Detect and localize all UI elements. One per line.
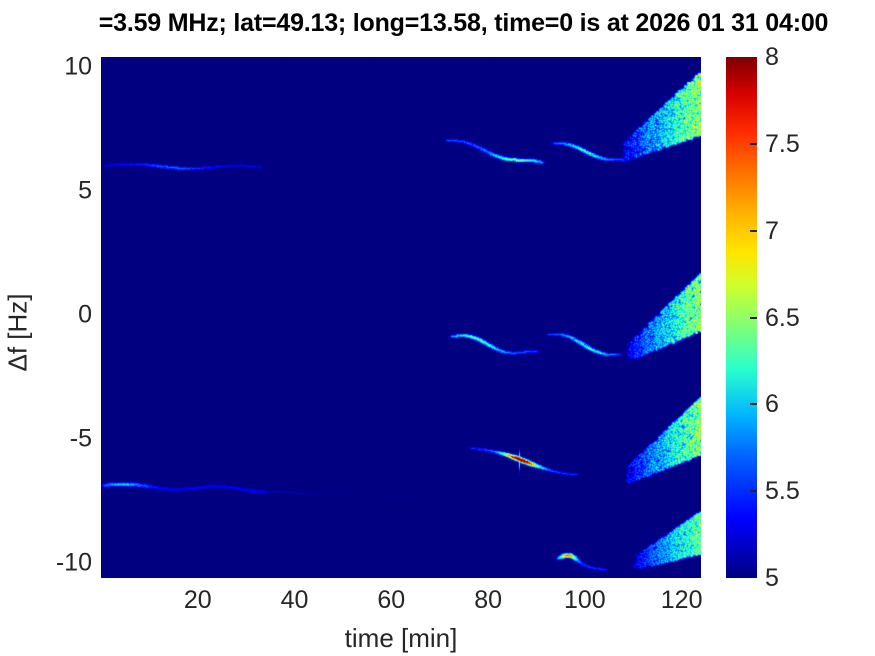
x-tick-label: 40: [281, 586, 309, 615]
x-tick-label: 100: [564, 586, 606, 615]
colorbar-tick-label: 8: [765, 42, 779, 72]
colorbar-tick-label: 5: [765, 563, 779, 593]
colorbar-tick-mark: [750, 317, 757, 319]
y-tick-label: -5: [70, 425, 92, 454]
page-title: =3.59 MHz; lat=49.13; long=13.58, time=0…: [26, 9, 875, 38]
y-axis-label: Δf [Hz]: [3, 253, 34, 413]
y-tick-label: 10: [64, 52, 92, 81]
y-tick-label: -10: [56, 549, 92, 578]
colorbar-tick-label: 5.5: [765, 476, 800, 506]
colorbar-tick-label: 6: [765, 389, 779, 419]
x-tick-label: 80: [474, 586, 502, 615]
x-axis: 20406080100120: [0, 586, 875, 626]
x-tick-label: 120: [661, 586, 703, 615]
colorbar-tick-mark: [750, 403, 757, 405]
x-axis-label: time [min]: [101, 623, 701, 654]
x-tick-label: 20: [184, 586, 212, 615]
colorbar-tick-mark: [750, 143, 757, 145]
y-tick-label: 5: [78, 176, 92, 205]
x-tick-label: 60: [377, 586, 405, 615]
spectrogram-image: [101, 57, 701, 578]
spectrogram-plot-area[interactable]: [101, 57, 701, 578]
colorbar-tick-label: 7.5: [765, 129, 800, 159]
y-tick-label: 0: [78, 301, 92, 330]
colorbar-tick-label: 6.5: [765, 303, 800, 333]
colorbar-tick-label: 7: [765, 216, 779, 246]
colorbar-tick-group: 87.576.565.55: [726, 57, 875, 578]
colorbar-tick-mark: [750, 490, 757, 492]
colorbar-tick-mark: [750, 230, 757, 232]
